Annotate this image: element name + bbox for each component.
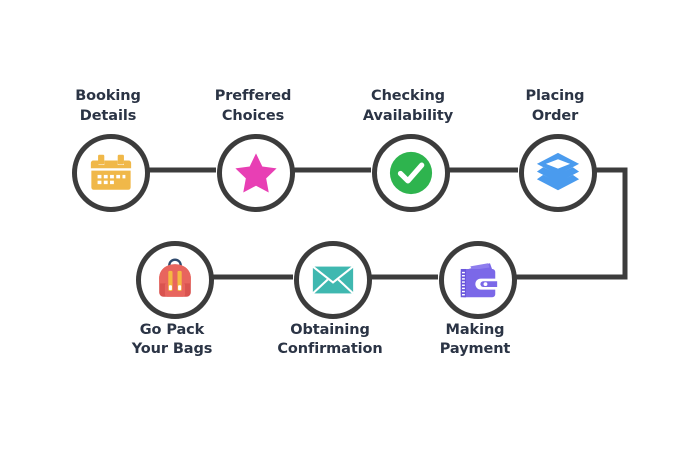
node-circle-making-payment[interactable] <box>439 241 517 319</box>
connector-layer <box>0 0 700 450</box>
node-circle-checking-availability[interactable] <box>372 134 450 212</box>
node-circle-obtaining-confirmation[interactable] <box>294 241 372 319</box>
node-label-go-pack-your-bags: Go Pack Your Bags <box>82 321 262 360</box>
star-icon <box>233 150 279 196</box>
backpack-icon <box>152 257 198 303</box>
calendar-icon <box>88 150 134 196</box>
layers-icon <box>535 150 581 196</box>
check-circle-icon <box>388 150 434 196</box>
node-label-placing-order: Placing Order <box>465 87 645 126</box>
node-circle-preffered-choices[interactable] <box>217 134 295 212</box>
envelope-icon <box>310 257 356 303</box>
node-circle-placing-order[interactable] <box>519 134 597 212</box>
node-label-making-payment: Making Payment <box>385 321 565 360</box>
node-circle-booking-details[interactable] <box>72 134 150 212</box>
wallet-icon <box>455 257 501 303</box>
node-circle-go-pack-your-bags[interactable] <box>136 241 214 319</box>
process-flow-diagram: Booking Details <box>0 0 700 450</box>
node-label-preffered-choices: Preffered Choices <box>163 87 343 126</box>
